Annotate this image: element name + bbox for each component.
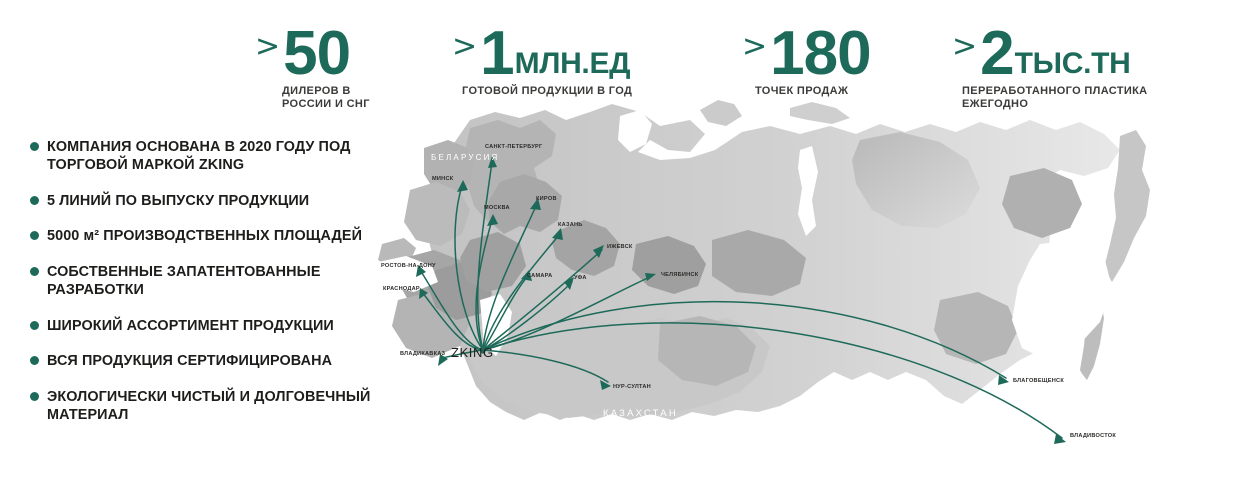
greater-than-icon: > bbox=[452, 33, 477, 61]
greater-than-icon: > bbox=[952, 33, 977, 61]
map-country-kazakhstan: КАЗАХСТАН bbox=[603, 408, 678, 419]
map-city-label-nursultan: НУР-СУЛТАН bbox=[613, 384, 651, 390]
list-item-label: ЭКОЛОГИЧЕСКИ ЧИСТЫЙ И ДОЛГОВЕЧНЫЙ МАТЕРИ… bbox=[47, 388, 402, 425]
stat-plastic: > 2 ТЫС.ТН ПЕРЕРАБОТАННОГО ПЛАСТИКА ЕЖЕГ… bbox=[952, 25, 1147, 112]
water-japan-sea bbox=[1030, 366, 1090, 418]
map-city-label-minsk: МИНСК bbox=[432, 176, 453, 182]
list-item-label: СОБСТВЕННЫЕ ЗАПАТЕНТОВАННЫЕ РАЗРАБОТКИ bbox=[47, 263, 402, 300]
list-item: КОМПАНИЯ ОСНОВАНА В 2020 ГОДУ ПОД ТОРГОВ… bbox=[30, 138, 402, 175]
list-item-label: ВСЯ ПРОДУКЦИЯ СЕРТИФИЦИРОВАНА bbox=[47, 352, 332, 370]
bullet-dot-icon bbox=[30, 392, 39, 401]
arrowhead-vladivostok bbox=[1054, 434, 1066, 444]
map-city-label-chelyabinsk: ЧЕЛЯБИНСК bbox=[661, 272, 698, 278]
map-city-label-ufa: УФА bbox=[574, 275, 587, 281]
list-item: СОБСТВЕННЫЕ ЗАПАТЕНТОВАННЫЕ РАЗРАБОТКИ bbox=[30, 263, 402, 300]
map-city-label-vladikavkaz: ВЛАДИКАВКАЗ bbox=[400, 351, 445, 357]
map-city-label-spb: САНКТ-ПЕТЕРБУРГ bbox=[485, 144, 542, 150]
stat-points-value: 180 bbox=[770, 25, 870, 82]
map-city-label-kirov: КИРОВ bbox=[536, 196, 557, 202]
list-item: ЭКОЛОГИЧЕСКИ ЧИСТЫЙ И ДОЛГОВЕЧНЫЙ МАТЕРИ… bbox=[30, 388, 402, 425]
bullet-dot-icon bbox=[30, 321, 39, 330]
stat-dealers: > 50 ДИЛЕРОВ В РОССИИ И СНГ bbox=[255, 25, 370, 112]
stat-points: > 180 ТОЧЕК ПРОДАЖ bbox=[742, 25, 872, 98]
stat-units-unit: МЛН.ЕД bbox=[515, 50, 631, 78]
list-item: 5000 м² ПРОИЗВОДСТВЕННЫХ ПЛОЩАДЕЙ bbox=[30, 227, 402, 245]
stat-units-number: > 1 МЛН.ЕД bbox=[452, 25, 632, 82]
list-item: 5 ЛИНИЙ ПО ВЫПУСКУ ПРОДУКЦИИ bbox=[30, 192, 402, 210]
map-city-label-samara: САМАРА bbox=[527, 273, 552, 279]
list-item-label: КОМПАНИЯ ОСНОВАНА В 2020 ГОДУ ПОД ТОРГОВ… bbox=[47, 138, 402, 175]
map-hub-label-zking: ZKING bbox=[451, 345, 494, 360]
list-item-label: ШИРОКИЙ АССОРТИМЕНТ ПРОДУКЦИИ bbox=[47, 317, 334, 335]
bullet-dot-icon bbox=[30, 196, 39, 205]
map-country-belarus: БЕЛАРУСИЯ bbox=[431, 153, 500, 162]
map-city-label-vladivostok: ВЛАДИВОСТОК bbox=[1070, 433, 1116, 439]
feature-list: КОМПАНИЯ ОСНОВАНА В 2020 ГОДУ ПОД ТОРГОВ… bbox=[30, 138, 402, 441]
map-city-label-moscow: МОСКВА bbox=[484, 205, 510, 211]
stat-dealers-caption: ДИЛЕРОВ В РОССИИ И СНГ bbox=[282, 85, 370, 112]
stat-plastic-value: 2 bbox=[980, 25, 1013, 82]
stat-units-value: 1 bbox=[480, 25, 513, 82]
greater-than-icon: > bbox=[742, 33, 767, 61]
stat-plastic-caption: ПЕРЕРАБОТАННОГО ПЛАСТИКА ЕЖЕГОДНО bbox=[962, 85, 1147, 112]
stat-plastic-unit: ТЫС.ТН bbox=[1015, 50, 1131, 78]
stat-units-caption: ГОТОВОЙ ПРОДУКЦИИ В ГОД bbox=[462, 85, 632, 98]
list-item: ВСЯ ПРОДУКЦИЯ СЕРТИФИЦИРОВАНА bbox=[30, 352, 402, 370]
map-city-label-kazan: КАЗАНЬ bbox=[558, 222, 583, 228]
greater-than-icon: > bbox=[255, 33, 280, 61]
infographic-canvas: БЕЛАРУСИЯ КАЗАХСТАН САНКТ-ПЕТЕРБУРГ МИНС… bbox=[0, 0, 1250, 500]
bullet-dot-icon bbox=[30, 231, 39, 240]
bullet-dot-icon bbox=[30, 142, 39, 151]
region-far-east-dark bbox=[1002, 168, 1082, 238]
list-item: ШИРОКИЙ АССОРТИМЕНТ ПРОДУКЦИИ bbox=[30, 317, 402, 335]
bullet-dot-icon bbox=[30, 267, 39, 276]
stat-dealers-value: 50 bbox=[283, 25, 350, 82]
list-item-label: 5000 м² ПРОИЗВОДСТВЕННЫХ ПЛОЩАДЕЙ bbox=[47, 227, 362, 245]
map-city-label-izhevsk: ИЖЕВСК bbox=[607, 244, 633, 250]
stat-plastic-number: > 2 ТЫС.ТН bbox=[952, 25, 1147, 82]
stat-dealers-number: > 50 bbox=[255, 25, 370, 82]
stat-units: > 1 МЛН.ЕД ГОТОВОЙ ПРОДУКЦИИ В ГОД bbox=[452, 25, 632, 98]
stats-row: > 50 ДИЛЕРОВ В РОССИИ И СНГ > 1 МЛН.ЕД Г… bbox=[0, 0, 1250, 112]
bullet-dot-icon bbox=[30, 356, 39, 365]
map-city-label-blagoveshchensk: БЛАГОВЕЩЕНСК bbox=[1013, 378, 1064, 384]
stat-points-number: > 180 bbox=[742, 25, 872, 82]
list-item-label: 5 ЛИНИЙ ПО ВЫПУСКУ ПРОДУКЦИИ bbox=[47, 192, 309, 210]
